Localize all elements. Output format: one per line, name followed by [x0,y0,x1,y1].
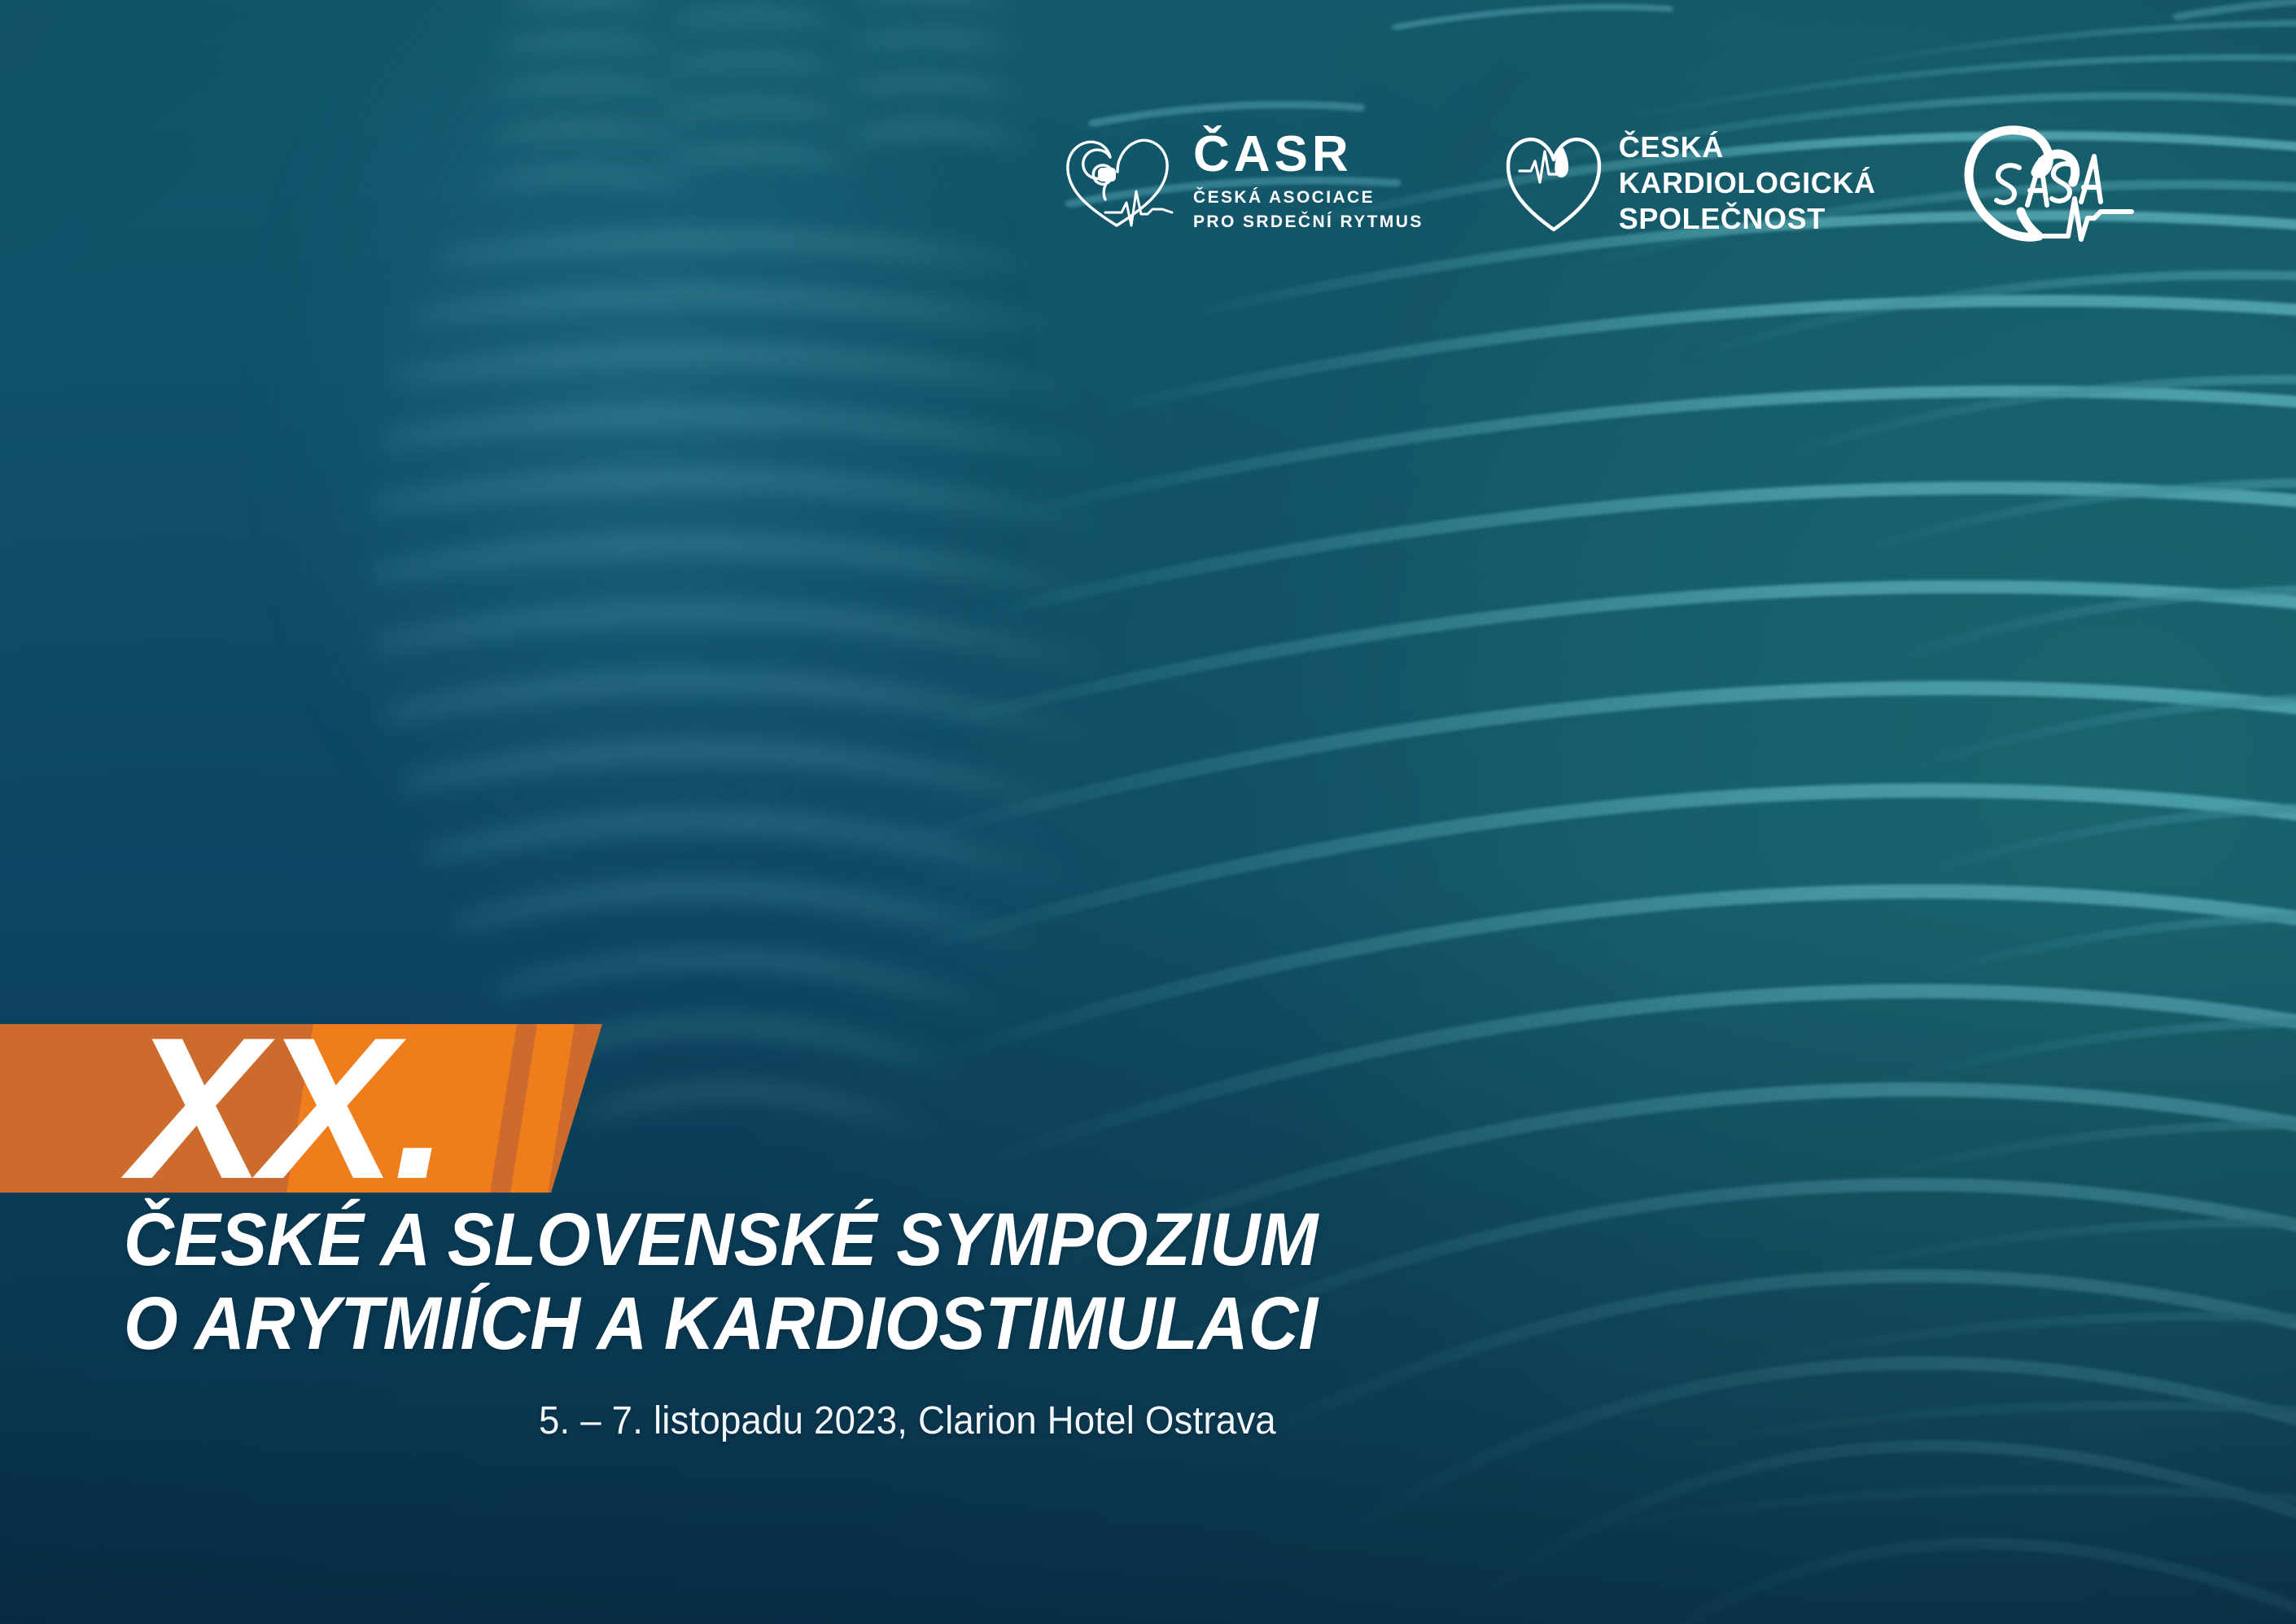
poster-title: ČESKÉ A SLOVENSKÉ SYMPOZIUM O ARYTMIÍCH … [124,1198,1408,1366]
logo-casr-subtitle-line-1: ČESKÁ ASOCIACE [1193,186,1424,210]
title-line-2: O ARYTMIÍCH A KARDIOSTIMULACI [124,1282,1318,1366]
heart-pacemaker-ecg-icon [1058,125,1180,243]
partner-logo-row: ČASR ČESKÁ ASOCIACE PRO SRDEČNÍ RYTMUS Č… [1058,122,2157,244]
logo-casr-acronym: ČASR [1193,131,1424,179]
heart-script-sasa-icon [1946,120,2149,247]
edition-number: XX. [130,1024,446,1193]
logo-sasa[interactable] [1946,120,2149,247]
logo-cks-line-3: SPOLEČNOST [1619,201,1876,237]
logo-cks-line-2: KARDIOLOGICKÁ [1619,165,1876,201]
logo-casr[interactable]: ČASR ČESKÁ ASOCIACE PRO SRDEČNÍ RYTMUS [1058,125,1424,243]
logo-cks-text: ČESKÁ KARDIOLOGICKÁ SPOLEČNOST [1619,129,1876,237]
logo-ceska-kardiologicka-spolecnost[interactable]: ČESKÁ KARDIOLOGICKÁ SPOLEČNOST [1502,127,1876,240]
banner-stripe-secondary [510,1024,575,1193]
logo-casr-text: ČASR ČESKÁ ASOCIACE PRO SRDEČNÍ RYTMUS [1193,131,1424,235]
logo-cks-line-1: ČESKÁ [1619,129,1876,165]
date-and-venue: 5. – 7. listopadu 2023, Clarion Hotel Os… [539,1399,1276,1443]
conference-poster: ČASR ČESKÁ ASOCIACE PRO SRDEČNÍ RYTMUS Č… [0,0,2296,1624]
heart-ecg-icon [1502,127,1606,240]
logo-casr-subtitle-line-2: PRO SRDEČNÍ RYTMUS [1193,210,1424,234]
